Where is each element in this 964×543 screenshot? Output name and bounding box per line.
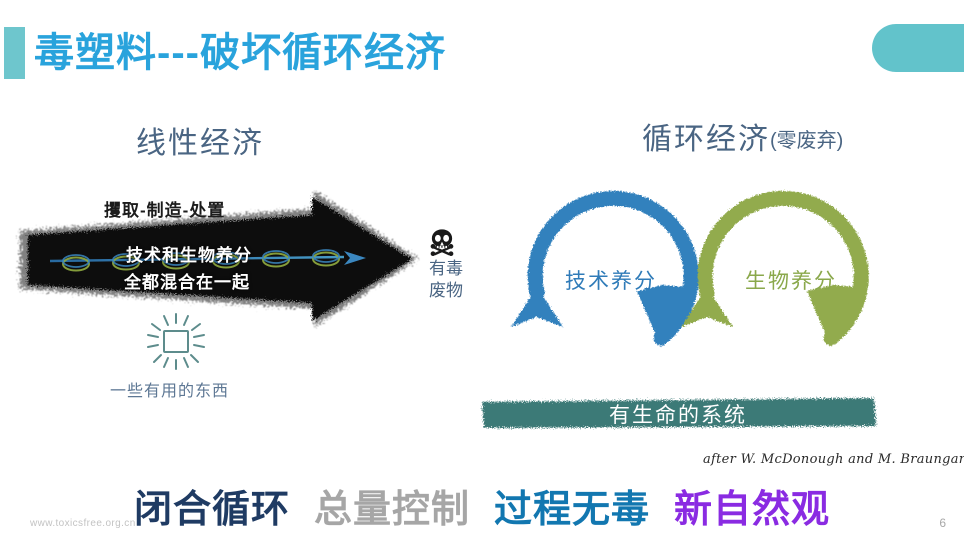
slide-canvas: 毒塑料---破坏循环经济 线性经济 [0, 0, 964, 543]
circular-economy-heading: 循环经济(零废弃) [642, 114, 843, 158]
header-decorative-pill [872, 24, 964, 72]
label-toxic-waste-line1: 有毒 [429, 258, 463, 280]
page-title: 毒塑料---破坏循环经济 [34, 28, 446, 78]
slogan-non-toxic-process: 过程无毒 [494, 487, 650, 533]
linear-economy-heading: 线性经济 [136, 118, 264, 162]
label-all-mixed-together: 全都混合在一起 [124, 268, 250, 293]
footer-website-url[interactable]: www.toxicsfree.org.cn [30, 518, 136, 529]
label-technical-nutrients: 技术养分 [565, 265, 657, 295]
slogan-total-quantity-control: 总量控制 [314, 487, 470, 533]
slogan-closed-loop: 闭合循环 [134, 487, 290, 533]
title-accent-bar [4, 27, 25, 79]
slogan-row: 闭合循环 总量控制 过程无毒 新自然观 [0, 487, 964, 533]
label-take-make-dispose: 攫取-制造-处置 [104, 196, 225, 221]
diagram-credit: after W. McDonough and M. Braungart [703, 452, 964, 467]
skull-and-crossbones-icon [427, 228, 457, 258]
twin-cycle-arrows-icon [495, 175, 915, 395]
label-toxic-waste-line2: 废物 [429, 280, 463, 302]
page-number: 6 [939, 516, 946, 530]
circular-economy-heading-main: 循环经济 [642, 123, 770, 156]
slogan-new-view-of-nature: 新自然观 [674, 487, 830, 533]
label-biological-nutrients: 生物养分 [745, 265, 837, 295]
label-tech-and-bio-nutrients: 技术和生物养分 [126, 241, 252, 266]
shining-box-icon [140, 310, 212, 372]
circular-economy-diagram [495, 175, 915, 395]
label-living-system: 有生命的系统 [478, 399, 878, 429]
label-useful-things: 一些有用的东西 [110, 377, 229, 401]
label-toxic-waste: 有毒 废物 [429, 258, 463, 302]
circular-economy-heading-suffix: (零废弃) [770, 130, 843, 152]
